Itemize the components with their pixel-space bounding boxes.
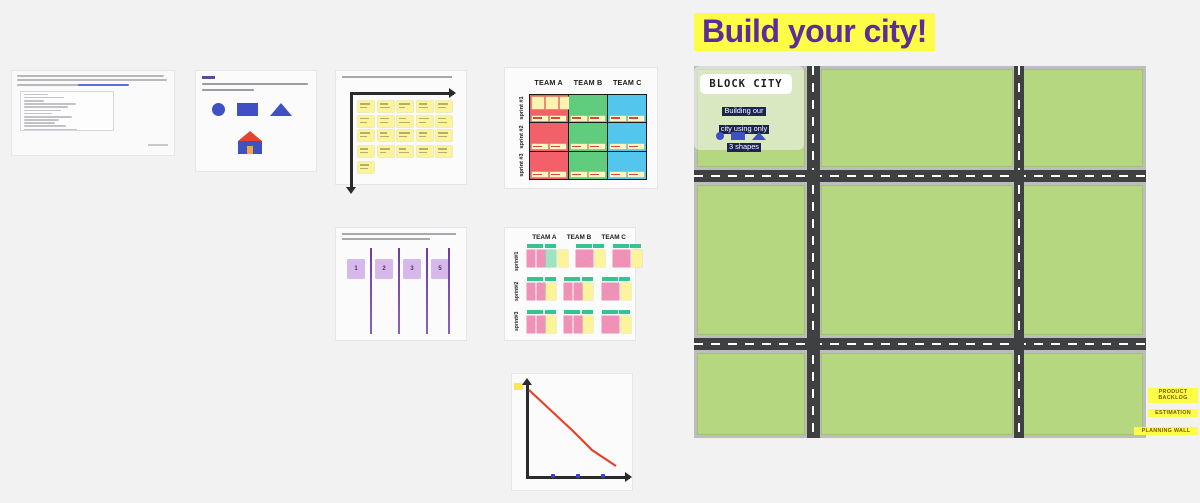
city-block[interactable] [698,354,804,434]
planwall-cell[interactable] [564,277,593,303]
triangle-icon[interactable] [752,132,766,140]
capacity-bars[interactable] [610,116,644,121]
planwall-pink-notes[interactable] [613,250,631,268]
planwall-cell[interactable] [602,277,631,303]
sticky-note[interactable] [417,101,433,112]
city-block[interactable] [822,354,1012,434]
circle-icon[interactable] [212,103,225,116]
rectangle-icon[interactable] [731,132,745,140]
sticky-note[interactable] [358,146,374,157]
sticky-note[interactable] [358,130,374,141]
card-product-backlog[interactable] [336,71,466,184]
estimation-caption-line-2 [342,238,430,240]
planwall-sprint-row [527,277,631,303]
planwall-pink-notes[interactable] [527,316,545,334]
capacity-bars[interactable] [571,116,605,121]
sticky-note[interactable] [417,130,433,141]
planwall-yellow-note[interactable] [546,283,556,301]
capacity-bars[interactable] [610,144,644,149]
backlog-sticky-grid[interactable] [358,101,462,177]
card-workshop-intro[interactable] [12,71,174,155]
planwall-cell[interactable] [527,310,556,336]
estimation-divider [426,248,428,334]
sticky-note[interactable] [378,146,394,157]
city-block[interactable] [822,186,1012,334]
teamboard-cell-notes[interactable] [532,97,572,109]
city-block[interactable] [698,186,804,334]
planwall-cell[interactable] [576,244,605,270]
planwall-pink-notes[interactable] [564,283,582,301]
planwall-cell-body[interactable] [564,283,593,301]
planwall-cell-body[interactable] [527,283,556,301]
capacity-bars[interactable] [571,172,605,177]
burndown-line [512,374,632,490]
planwall-sprint-2-label: sprint#2 [511,276,523,306]
teamboard-cell[interactable] [608,123,646,151]
card-goal-shapes[interactable] [196,71,316,171]
teamboard-sprint-1-label: sprint #1 [515,94,529,123]
circle-icon[interactable] [716,132,724,140]
agenda-box [20,91,114,131]
planwall-cell-header [564,310,593,314]
sticky-note[interactable] [436,116,452,127]
estimation-divider [370,248,372,334]
planwall-pink-notes[interactable] [527,283,545,301]
planwall-yellow-note[interactable] [558,250,568,268]
capacity-bars[interactable] [610,172,644,177]
block-city-subtitle-line-3: 3 shapes [727,143,761,152]
city-block[interactable] [1024,354,1142,434]
planwall-yellow-note[interactable] [621,283,631,301]
planwall-team-c-label: TEAM C [596,234,631,241]
teamboard-sprint-3-label: sprint #3 [515,151,529,180]
sticky-note[interactable] [397,116,413,127]
backlog-row [358,130,462,141]
planwall-cell-body[interactable] [527,250,568,268]
capacity-bars[interactable] [571,144,605,149]
planwall-sprint-row [527,244,631,270]
sticky-note[interactable] [417,116,433,127]
backlog-caption [342,76,452,78]
estimation-card[interactable]: 1 [348,260,364,278]
teamboard-cell[interactable] [530,95,568,123]
edge-label-planning-wall[interactable]: PLANNING WALL [1134,427,1198,435]
intro-signature [148,144,168,146]
planwall-cell-header [527,277,556,281]
planwall-team-a-label: TEAM A [527,234,562,241]
teamboard-team-a-label: TEAM A [529,78,568,87]
teamboard-column-c[interactable] [608,95,646,179]
sticky-note[interactable] [358,116,374,127]
card-planning-wall[interactable]: TEAM A TEAM B TEAM C sprint#1 sprint#2 s… [505,228,635,340]
sticky-note[interactable] [417,146,433,157]
planwall-header-row: TEAM A TEAM B TEAM C [527,234,631,241]
sticky-note[interactable] [436,101,452,112]
planwall-yellow-note[interactable] [583,316,593,334]
sticky-note[interactable] [378,116,394,127]
road-lane-marking [812,66,814,438]
sticky-note[interactable] [436,130,452,141]
planwall-yellow-note[interactable] [621,316,631,334]
teamboard-cell[interactable] [569,152,607,179]
planwall-cell[interactable] [527,244,568,270]
block-city-map[interactable]: BLOCK CITY Building our city using only … [694,66,1146,438]
edge-label-estimation[interactable]: ESTIMATION [1148,409,1198,417]
planwall-cell-body[interactable] [564,316,593,334]
planwall-cell-header [576,244,605,248]
sticky-note[interactable] [358,162,374,173]
block-city-subtitle: Building our city using only 3 shapes [706,100,782,154]
planwall-sprint-1-label: sprint#1 [511,246,523,276]
card-team-sprint-board[interactable]: TEAM A TEAM B TEAM C sprint #1 sprint #2… [505,68,657,188]
burndown-marker[interactable] [601,474,605,478]
capacity-bars[interactable] [532,172,566,177]
backlog-axis-vertical [350,92,353,188]
sticky-note[interactable] [378,101,394,112]
planwall-pink-notes[interactable] [576,250,594,268]
planwall-cell-header [602,310,631,314]
planwall-cell[interactable] [564,310,593,336]
backlog-axis-horizontal [350,92,454,95]
city-intersection [807,170,820,182]
sticky-note[interactable] [397,130,413,141]
planwall-sprint-3-label: sprint#3 [511,306,523,336]
teamboard-cell[interactable] [608,95,646,123]
burndown-marker[interactable] [576,474,580,478]
planwall-cell-body[interactable] [527,316,556,334]
planwall-pink-notes[interactable] [602,316,620,334]
teamboard-cell[interactable] [569,123,607,151]
planwall-cell-header [527,244,568,248]
planwall-cell-body[interactable] [602,283,631,301]
block-city-subtitle-line-1: Building our [722,107,765,116]
city-block[interactable] [1024,186,1142,334]
goal-bullet-2 [202,89,254,91]
teamboard-cell[interactable] [608,152,646,179]
planwall-grid[interactable] [527,244,631,336]
planwall-pink-notes[interactable] [564,316,582,334]
rectangle-icon[interactable] [237,103,258,116]
sticky-note[interactable] [358,101,374,112]
estimation-card[interactable]: 5 [432,260,448,278]
block-city-title: BLOCK CITY [709,78,782,90]
planwall-cell-header [613,244,642,248]
planwall-yellow-note[interactable] [595,250,605,268]
intro-paragraph [17,75,169,88]
estimation-caption-line-1 [342,233,456,235]
house-example [238,131,262,154]
board-canvas[interactable]: TEAM A TEAM B TEAM C sprint #1 sprint #2… [0,0,1200,503]
teamboard-column-a[interactable] [530,95,569,179]
house-roof-icon [238,131,262,141]
backlog-row [358,146,462,157]
planwall-green-note[interactable] [546,250,556,268]
teamboard-team-c-label: TEAM C [608,78,647,87]
estimation-card[interactable]: 2 [376,260,392,278]
backlog-row [358,162,462,173]
planwall-sprint-labels: sprint#1 sprint#2 sprint#3 [511,246,523,336]
sticky-note[interactable] [397,101,413,112]
estimation-lanes[interactable]: 1 2 3 5 [344,248,460,334]
page-title: Build your city! [694,13,935,51]
teamboard-grid[interactable] [529,94,647,180]
teamboard-cell[interactable] [530,152,568,179]
burndown-marker[interactable] [551,474,555,478]
goal-bullet-1 [202,83,308,85]
teamboard-cell[interactable] [569,95,607,123]
sticky-note[interactable] [436,146,452,157]
planwall-team-b-label: TEAM B [562,234,597,241]
intro-link[interactable] [78,84,130,86]
sticky-note[interactable] [546,97,558,109]
capacity-bars[interactable] [532,144,566,149]
backlog-row [358,101,462,112]
estimation-divider [398,248,400,334]
planwall-sprint-row [527,310,631,336]
house-body-icon [238,141,262,154]
planwall-cell-header [602,277,631,281]
sticky-note[interactable] [378,130,394,141]
estimation-divider [448,248,450,334]
planwall-cell-body[interactable] [602,316,631,334]
shape-palette[interactable] [212,103,302,116]
city-intersection [807,338,820,350]
teamboard-cell[interactable] [530,123,568,151]
block-city-plate: BLOCK CITY [700,74,792,94]
city-intersection [1014,338,1024,350]
planwall-cell-body[interactable] [576,250,605,268]
sticky-note[interactable] [397,146,413,157]
card-estimation[interactable]: 1 2 3 5 [336,228,466,340]
goal-heading [202,76,215,79]
planwall-cell-header [564,277,593,281]
planwall-yellow-note[interactable] [632,250,642,268]
teamboard-header-row: TEAM A TEAM B TEAM C [529,78,647,87]
planwall-pink-notes[interactable] [527,250,545,268]
teamboard-column-b[interactable] [569,95,608,179]
teamboard-team-b-label: TEAM B [568,78,607,87]
planwall-pink-notes[interactable] [602,283,620,301]
road-lane-marking [1018,66,1020,438]
estimation-card[interactable]: 3 [404,260,420,278]
road-lane-marking [694,175,1146,177]
planwall-cell[interactable] [602,310,631,336]
planwall-cell[interactable] [527,277,556,303]
city-block[interactable] [822,70,1012,166]
teamboard-sprint-labels: sprint #1 sprint #2 sprint #3 [515,94,529,180]
block-city-shape-legend[interactable] [716,132,766,140]
triangle-icon[interactable] [270,103,292,116]
sticky-note[interactable] [532,97,544,109]
city-intersection [1014,170,1024,182]
planwall-yellow-note[interactable] [546,316,556,334]
city-block[interactable] [1024,70,1142,166]
edge-label-product-backlog[interactable]: PRODUCT BACKLOG [1148,388,1198,403]
road-lane-marking [694,343,1146,345]
teamboard-sprint-2-label: sprint #2 [515,123,529,152]
house-door-icon [247,146,253,154]
capacity-bars[interactable] [532,116,566,121]
planwall-cell[interactable] [613,244,642,270]
planwall-yellow-note[interactable] [583,283,593,301]
planwall-cell-header [527,310,556,314]
backlog-row [358,116,462,127]
card-burndown-chart[interactable] [512,374,632,490]
planwall-cell-body[interactable] [613,250,642,268]
